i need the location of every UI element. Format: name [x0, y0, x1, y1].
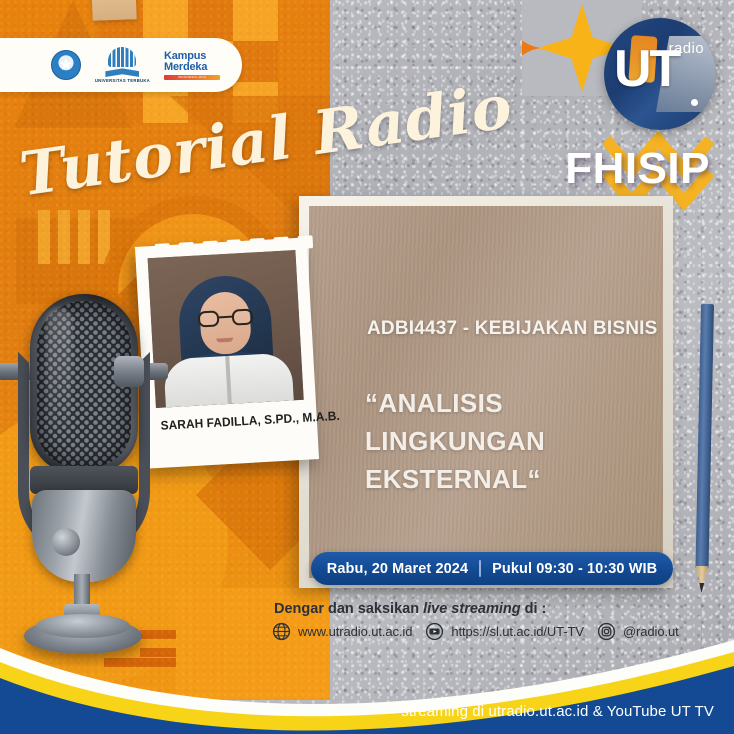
kemdikbud-seal-icon — [51, 50, 81, 80]
badge-separator — [479, 560, 481, 577]
schedule-time: Pukul 09:30 - 10:30 WIB — [492, 561, 657, 577]
faculty-title: FHISIP — [565, 144, 710, 194]
universitas-terbuka-logo: UNIVERSITAS TERBUKA — [95, 47, 150, 83]
kampus-line1: Kampus — [164, 51, 206, 62]
mic-knob — [52, 528, 80, 556]
bar-4 — [98, 210, 110, 264]
speaker-name: SARAH FADILLA, S.PD., M.A.B. — [160, 411, 301, 433]
bar-3 — [78, 210, 90, 264]
kampus-tagline: INDONESIA JAYA — [164, 75, 220, 80]
schedule-date: Rabu, 20 Maret 2024 — [327, 561, 468, 577]
course-board: ADBI4437 - KEBIJAKAN BISNIS “ANALISIS LI… — [299, 196, 673, 588]
ut-radio-logo: UT radio — [604, 18, 716, 130]
course-title: “ANALISIS LINGKUNGAN EKSTERNAL“ — [365, 384, 663, 498]
ut-mark-icon — [105, 47, 139, 77]
bar-1 — [38, 210, 50, 264]
kampus-line2: Merdeka — [164, 62, 207, 73]
kampus-merdeka-logo: Kampus Merdeka INDONESIA JAYA — [164, 51, 220, 80]
poster-canvas: UNIVERSITAS TERBUKA Kampus Merdeka INDON… — [0, 0, 734, 734]
tape-strip — [91, 0, 136, 21]
schedule-badge: Rabu, 20 Maret 2024 Pukul 09:30 - 10:30 … — [311, 552, 673, 585]
glasses-icon — [198, 309, 254, 328]
ut-radio-word: radio — [669, 40, 704, 57]
course-code: ADBI4437 - KEBIJAKAN BISNIS — [367, 318, 657, 340]
ut-caption: UNIVERSITAS TERBUKA — [95, 78, 150, 83]
bar-2 — [58, 210, 70, 264]
footer-text: streaming di utradio.ut.ac.id & YouTube … — [401, 703, 714, 720]
institution-logos: UNIVERSITAS TERBUKA Kampus Merdeka INDON… — [0, 38, 242, 92]
